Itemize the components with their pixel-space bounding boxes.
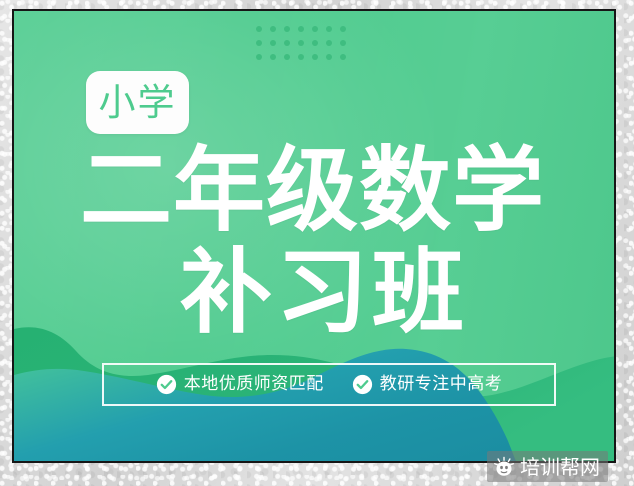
grid-dot (340, 54, 346, 60)
watermark: 培训帮网 (487, 451, 608, 482)
grid-dot (340, 40, 346, 46)
grid-dot (256, 40, 262, 46)
feature-item-2: 教研专注中高考 (352, 374, 503, 395)
feature-box: 本地优质师资匹配 教研专注中高考 (102, 363, 556, 406)
grid-dot (298, 54, 304, 60)
feature-label-1: 本地优质师资匹配 (184, 376, 324, 393)
grid-dot (312, 26, 318, 32)
page-background: 小学 二年级数学 补习班 本地优质师资匹配 教研专注中高考 (0, 0, 634, 486)
grid-dot (284, 40, 290, 46)
check-circle-icon (352, 374, 373, 395)
grid-dot (270, 26, 276, 32)
headline-line-2: 补习班 (180, 247, 468, 339)
watermark-text: 培训帮网 (520, 457, 600, 477)
grid-dot (256, 26, 262, 32)
grid-dot (270, 54, 276, 60)
feature-label-2: 教研专注中高考 (380, 376, 503, 393)
grade-badge-label: 小学 (99, 84, 177, 121)
check-circle-icon (156, 374, 177, 395)
dot-grid-pattern (252, 22, 350, 64)
feature-item-1: 本地优质师资匹配 (156, 374, 324, 395)
grid-dot (312, 54, 318, 60)
grid-dot (298, 26, 304, 32)
grid-dot (284, 54, 290, 60)
sun-face-icon (493, 456, 515, 478)
grid-dot (326, 40, 332, 46)
grid-dot (340, 26, 346, 32)
grid-dot (298, 40, 304, 46)
headline-line-1: 二年级数学 (80, 145, 545, 237)
grid-dot (326, 26, 332, 32)
grid-dot (270, 40, 276, 46)
grid-dot (284, 26, 290, 32)
grid-dot (256, 54, 262, 60)
grid-dot (326, 54, 332, 60)
grade-badge: 小学 (86, 71, 189, 134)
grid-dot (312, 40, 318, 46)
poster-card: 小学 二年级数学 补习班 本地优质师资匹配 教研专注中高考 (12, 9, 616, 463)
